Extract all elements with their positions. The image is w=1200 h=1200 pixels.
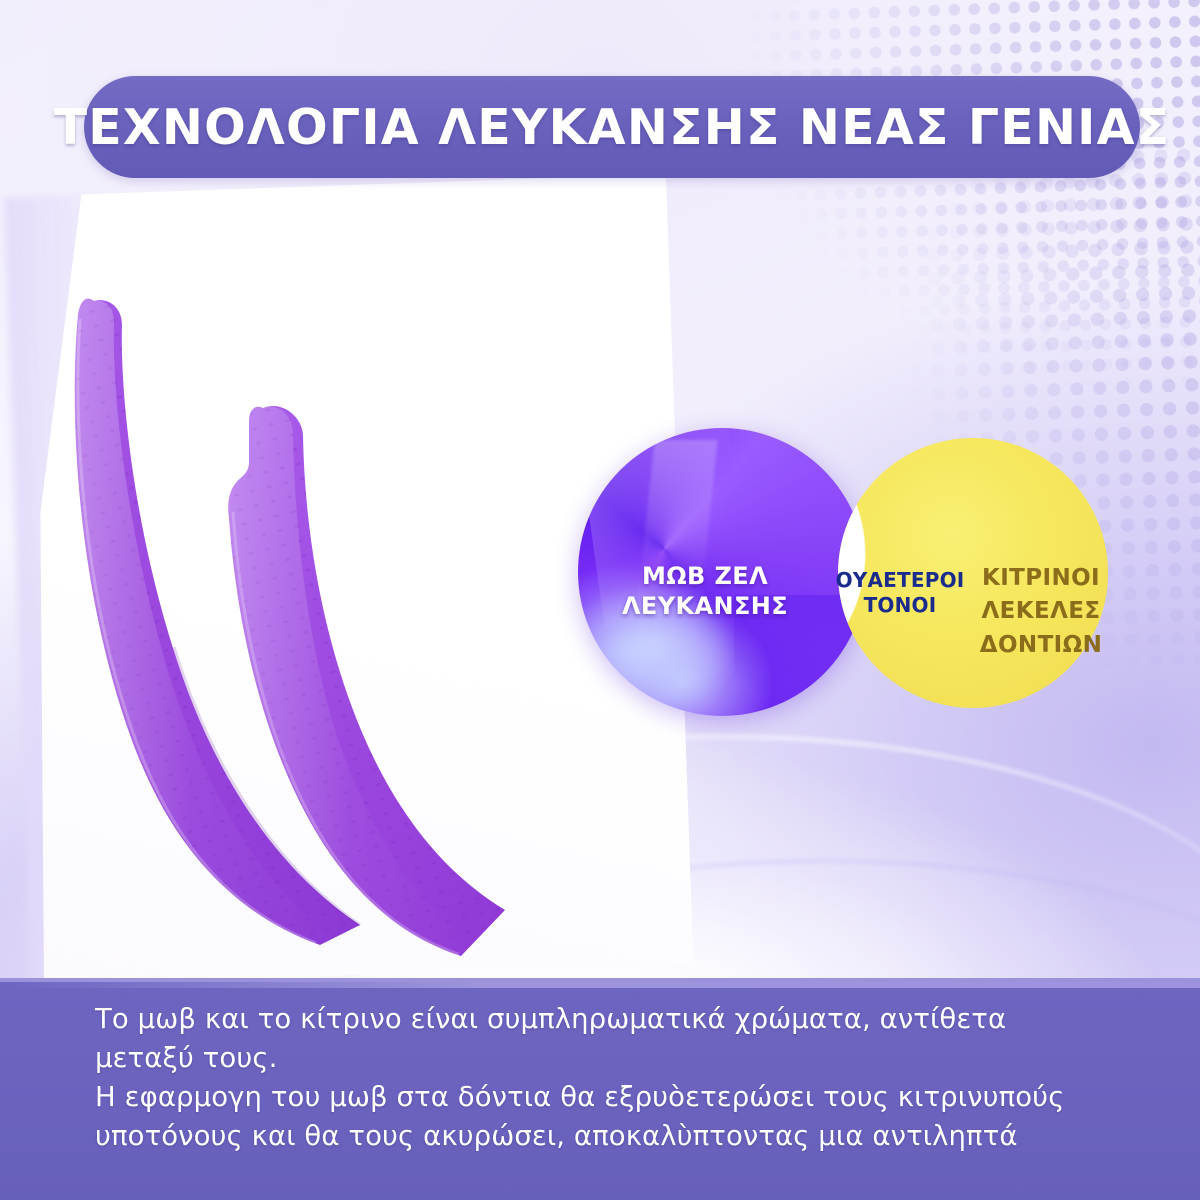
- whitening-strip-lower: [225, 400, 565, 970]
- caption-line-4: υποτόνους και θα τους ακυρώσει, αποκαλὺπ…: [95, 1117, 1125, 1156]
- header-banner: ΤΕΧΝΟΛΟΓΙΑ ΛΕΥΚΑΝΣΗΣ ΝΕΑΣ ΓΕΝΙΑΣ: [84, 76, 1140, 178]
- venn-diagram: ΜΩΒ ΖΕΛ ΛΕΥΚΑΝΣΗΣ ΟΥΑΕΤΕΡΟΙ ΤΟΝΟΙ ΚΙΤΡΙΝ…: [560, 410, 1140, 800]
- caption-band-top-edge: [0, 982, 1200, 988]
- promo-image-canvas: ΤΕΧΝΟΛΟΓΙΑ ΛΕΥΚΑΝΣΗΣ ΝΕΑΣ ΓΕΝΙΑΣ ΜΩΒ ΖΕΛ…: [0, 0, 1200, 1200]
- caption-line-3: Η εφαρμογη του μωβ στα δόντια θα εξρυὸετ…: [95, 1078, 1125, 1117]
- page-title: ΤΕΧΝΟΛΟΓΙΑ ΛΕΥΚΑΝΣΗΣ ΝΕΑΣ ΓΕΝΙΑΣ: [54, 103, 1171, 152]
- caption-text-block: Το μωβ και το κίτρινο είναι συμπληρωματι…: [95, 1000, 1125, 1156]
- venn-label-yellow-stains: ΚΙΤΡΙΝΟΙ ΛΕΚΕΛΕΣ ΔΟΝΤΙΩΝ: [946, 562, 1136, 662]
- caption-band: Το μωβ και το κίτρινο είναι συμπληρωματι…: [0, 978, 1200, 1200]
- caption-line-2: μεταξύ τους.: [95, 1039, 1125, 1078]
- caption-line-1: Το μωβ και το κίτρινο είναι συμπληρωματι…: [95, 1000, 1125, 1039]
- venn-label-purple-gel: ΜΩΒ ΖΕΛ ΛΕΥΚΑΝΣΗΣ: [580, 562, 830, 622]
